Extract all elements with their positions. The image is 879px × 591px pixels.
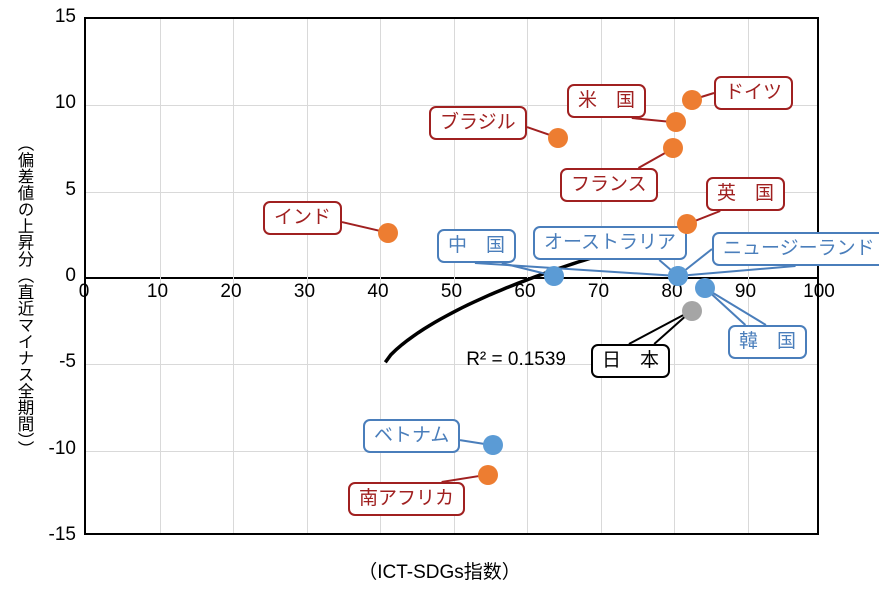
- y-axis-tick-label: 5: [14, 179, 76, 201]
- scatter-chart: （偏差値の上昇分（直近マイナス全期間）） （ICT-SDGs指数） R² = 0…: [0, 0, 879, 591]
- y-axis-tick-label: -10: [14, 438, 76, 460]
- x-axis-title: （ICT-SDGs指数）: [0, 557, 879, 584]
- x-axis-tick-label: 100: [794, 281, 844, 303]
- x-axis-tick-label: 0: [59, 281, 109, 303]
- callout-japan[interactable]: 日 本: [591, 344, 670, 378]
- gridline-vertical: [307, 19, 308, 533]
- data-point[interactable]: [682, 301, 702, 321]
- x-axis-tick-label: 60: [500, 281, 550, 303]
- y-axis-tick-label: -15: [14, 524, 76, 546]
- data-point[interactable]: [677, 214, 697, 234]
- gridline-vertical: [527, 19, 528, 533]
- data-point[interactable]: [668, 266, 688, 286]
- callout-usa[interactable]: 米 国: [567, 84, 646, 118]
- callout-newzealand[interactable]: ニュージーランド: [712, 232, 879, 266]
- y-axis-tick-label: 15: [14, 6, 76, 28]
- callout-india[interactable]: インド: [263, 201, 342, 235]
- callout-germany[interactable]: ドイツ: [714, 76, 793, 110]
- x-axis-tick-label: 50: [427, 281, 477, 303]
- callout-vietnam[interactable]: ベトナム: [363, 419, 460, 453]
- data-point[interactable]: [663, 138, 683, 158]
- data-point[interactable]: [695, 278, 715, 298]
- gridline-vertical: [233, 19, 234, 533]
- plot-area: [84, 17, 819, 535]
- gridline-vertical: [380, 19, 381, 533]
- data-point[interactable]: [544, 266, 564, 286]
- callout-brazil[interactable]: ブラジル: [429, 106, 527, 140]
- x-axis-tick-label: 90: [721, 281, 771, 303]
- y-axis-tick-label: -5: [14, 351, 76, 373]
- gridline-vertical: [454, 19, 455, 533]
- data-point[interactable]: [483, 435, 503, 455]
- data-point[interactable]: [478, 465, 498, 485]
- callout-france[interactable]: フランス: [560, 168, 658, 202]
- data-point[interactable]: [682, 90, 702, 110]
- callout-china[interactable]: 中 国: [437, 229, 516, 263]
- x-axis-tick-label: 20: [206, 281, 256, 303]
- callout-australia[interactable]: オーストラリア: [533, 226, 687, 260]
- x-axis-tick-label: 30: [280, 281, 330, 303]
- y-axis-tick-label: 10: [14, 92, 76, 114]
- gridline-vertical: [160, 19, 161, 533]
- callout-uk[interactable]: 英 国: [706, 177, 785, 211]
- r-squared-annotation: R² = 0.1539: [466, 349, 566, 371]
- callout-southafrica[interactable]: 南アフリカ: [348, 482, 465, 516]
- data-point[interactable]: [548, 128, 568, 148]
- x-axis-tick-label: 70: [574, 281, 624, 303]
- data-point[interactable]: [666, 112, 686, 132]
- callout-korea[interactable]: 韓 国: [728, 325, 807, 359]
- data-point[interactable]: [378, 223, 398, 243]
- x-axis-tick-label: 10: [133, 281, 183, 303]
- x-axis-tick-label: 40: [353, 281, 403, 303]
- gridline-horizontal: [86, 364, 817, 365]
